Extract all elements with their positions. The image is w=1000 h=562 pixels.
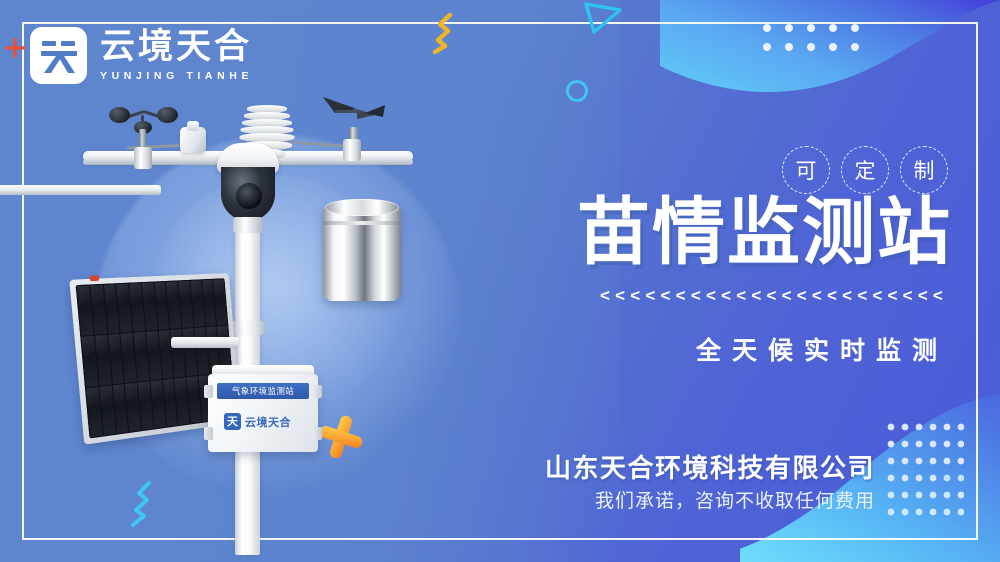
brand-logo[interactable]: 云境天合 YUNJING TIANHE	[30, 27, 253, 84]
subtitle: 全天候实时监测	[696, 331, 948, 367]
control-box-logo-text: 云境天合	[245, 414, 291, 430]
customizable-badges: 可 定 制	[782, 146, 948, 194]
weather-station-image: 气象环境监测站 天 云境天合	[75, 85, 445, 555]
solar-panel-indicator	[90, 275, 99, 281]
badge-ding: 定	[841, 146, 889, 194]
wind-vane-sensor	[313, 93, 399, 155]
company-name: 山东天合环境科技有限公司	[545, 448, 875, 485]
control-box-logo-mark-icon: 天	[224, 413, 241, 430]
rain-gauge	[323, 197, 401, 309]
dot-grid-top-right	[762, 22, 866, 61]
mast-joint	[231, 321, 264, 335]
ptz-camera-dome	[214, 143, 282, 231]
control-box-label-text: 气象环境监测站	[232, 385, 294, 397]
dot-grid-bottom-right	[886, 422, 964, 523]
logo-english-name: YUNJING TIANHE	[100, 70, 253, 82]
control-box-logo: 天 云境天合	[224, 413, 291, 430]
badge-ke: 可	[782, 146, 830, 194]
chevron-divider: <<<<<<<<<<<<<<<<<<<<<<<	[600, 286, 948, 306]
rain-gauge-bracket	[0, 185, 161, 195]
page-title: 苗情监测站	[577, 196, 952, 269]
solar-panel-bracket	[171, 337, 239, 348]
anemometer-sensor	[109, 103, 181, 153]
promise-text: 我们承诺，咨询不收取任何费用	[595, 486, 875, 513]
logo-chinese-name: 云境天合	[100, 29, 253, 66]
logo-text: 云境天合 YUNJING TIANHE	[100, 29, 253, 81]
logo-mark-icon	[30, 27, 87, 84]
badge-zhi: 制	[900, 146, 948, 194]
promo-banner: 云境天合 YUNJING TIANHE	[0, 0, 1000, 562]
control-box: 气象环境监测站 天 云境天合	[208, 365, 318, 455]
control-box-label-banner: 气象环境监测站	[217, 383, 309, 399]
auxiliary-sensor-cap	[187, 121, 199, 131]
